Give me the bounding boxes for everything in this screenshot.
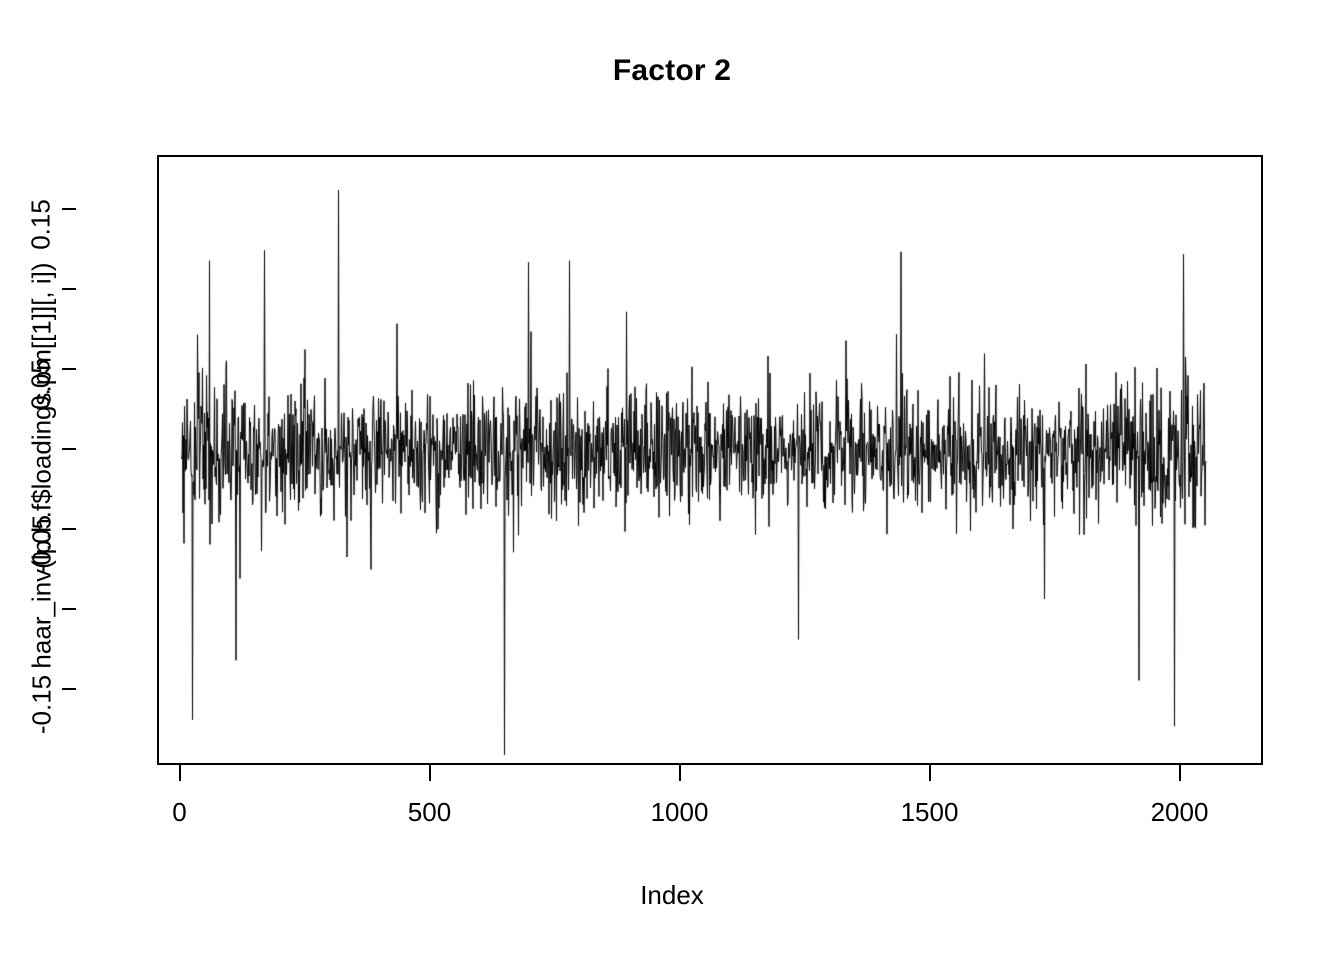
- y-tick: [62, 288, 76, 290]
- y-tick: [62, 528, 76, 530]
- y-tick: [62, 448, 76, 450]
- y-tick: [62, 368, 76, 370]
- x-tick-label: 500: [408, 797, 451, 828]
- x-tick-label: 2000: [1151, 797, 1209, 828]
- x-tick: [679, 765, 681, 781]
- y-tick-label: 0.05: [26, 359, 57, 410]
- r-plot-window: Factor 2 haar_inv(lp.h.f$loadings.pm[[1]…: [0, 0, 1344, 960]
- y-tick-label: 0.15: [26, 199, 57, 250]
- x-tick-label: 0: [172, 797, 186, 828]
- y-tick: [62, 688, 76, 690]
- x-axis-title: Index: [0, 880, 1344, 911]
- x-tick-label: 1000: [651, 797, 709, 828]
- x-tick: [1179, 765, 1181, 781]
- plot-panel: [157, 155, 1263, 765]
- y-tick: [62, 208, 76, 210]
- y-tick-label: -0.05: [26, 515, 57, 574]
- x-tick: [929, 765, 931, 781]
- data-series-line: [159, 157, 1265, 767]
- x-tick: [179, 765, 181, 781]
- y-tick-label: -0.15: [26, 675, 57, 734]
- page-title: Factor 2: [0, 54, 1344, 88]
- x-axis: 0500100015002000: [0, 765, 1344, 885]
- y-tick: [62, 608, 76, 610]
- x-tick-label: 1500: [901, 797, 959, 828]
- x-tick: [429, 765, 431, 781]
